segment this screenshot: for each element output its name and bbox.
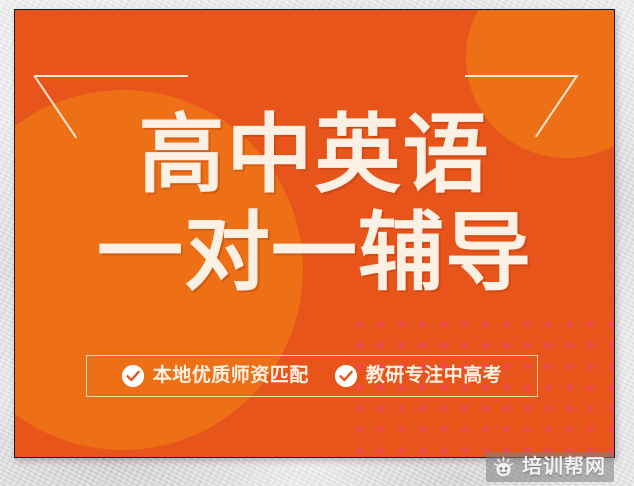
headline-line-1: 高中英语 (15, 106, 614, 204)
poster-canvas: 高中英语 一对一辅导 本地优质师资匹配 (14, 9, 615, 458)
chevron-top-left-horizontal-line (35, 75, 188, 77)
feature-badge-1-label: 本地优质师资匹配 (153, 365, 309, 387)
headline-line-2: 一对一辅导 (15, 204, 614, 302)
feature-badge-bar: 本地优质师资匹配 教研专注中高考 (86, 355, 538, 397)
headline-block: 高中英语 一对一辅导 (15, 106, 614, 302)
feature-badge-1: 本地优质师资匹配 (122, 365, 309, 387)
chevron-top-right-horizontal-line (465, 75, 578, 77)
watermark-label: 培训帮网 (522, 456, 606, 478)
feature-badge-2-label: 教研专注中高考 (366, 365, 503, 387)
check-circle-icon (335, 365, 357, 387)
check-circle-icon (122, 365, 144, 387)
feature-badge-2: 教研专注中高考 (335, 365, 503, 387)
poster-frame: 高中英语 一对一辅导 本地优质师资匹配 (0, 0, 634, 486)
site-watermark: 培训帮网 (486, 452, 614, 482)
sun-face-logo-icon (492, 456, 515, 479)
